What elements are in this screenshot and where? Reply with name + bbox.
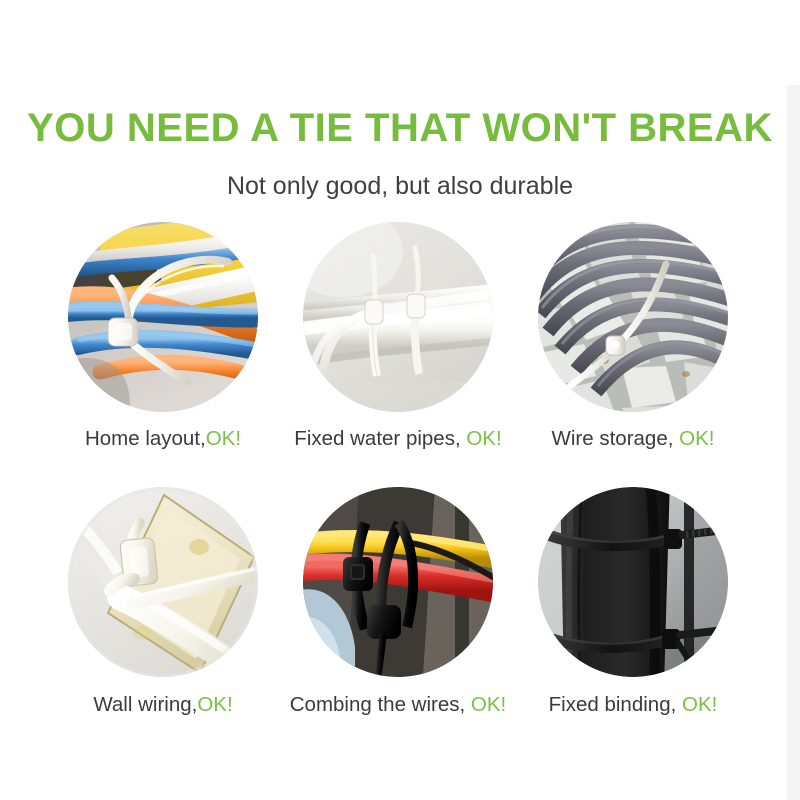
feature-card-wire-storage: Wire storage, OK! <box>515 222 751 487</box>
caption-ok-badge: OK! <box>471 693 506 716</box>
caption-fixed-binding: Fixed binding, OK! <box>515 693 751 717</box>
caption-text: Fixed binding, <box>549 693 682 716</box>
caption-fixed-water-pipes: Fixed water pipes, OK! <box>280 427 516 451</box>
page-title: YOU NEED A TIE THAT WON'T BREAK <box>0 106 800 151</box>
feature-card-wall-wiring: Wall wiring,OK! <box>45 487 281 752</box>
caption-text: Home layout, <box>85 427 206 450</box>
feature-card-fixed-binding: Fixed binding, OK! <box>515 487 751 752</box>
caption-text: Wall wiring, <box>93 693 197 716</box>
caption-home-layout: Home layout,OK! <box>45 427 281 451</box>
caption-ok-badge: OK! <box>682 693 717 716</box>
feature-card-combing-the-wires: Combing the wires, OK! <box>280 487 516 752</box>
caption-combing-the-wires: Combing the wires, OK! <box>280 693 516 717</box>
feature-card-fixed-water-pipes: Fixed water pipes, OK! <box>280 222 516 487</box>
photo-home-layout <box>68 222 258 412</box>
caption-text: Fixed water pipes, <box>294 427 466 450</box>
photo-wire-storage <box>538 222 728 412</box>
caption-text: Combing the wires, <box>290 693 471 716</box>
promo-page: YOU NEED A TIE THAT WON'T BREAK Not only… <box>0 0 800 800</box>
caption-ok-badge: OK! <box>197 693 232 716</box>
page-subtitle: Not only good, but also durable <box>0 172 800 201</box>
caption-wall-wiring: Wall wiring,OK! <box>45 693 281 717</box>
photo-fixed-water-pipes <box>303 222 493 412</box>
caption-text: Wire storage, <box>552 427 680 450</box>
photo-fixed-binding <box>538 487 728 677</box>
photo-combing-the-wires <box>303 487 493 677</box>
caption-wire-storage: Wire storage, OK! <box>515 427 751 451</box>
caption-ok-badge: OK! <box>206 427 241 450</box>
caption-ok-badge: OK! <box>679 427 714 450</box>
caption-ok-badge: OK! <box>466 427 501 450</box>
photo-wall-wiring <box>68 487 258 677</box>
feature-card-home-layout: Home layout,OK! <box>45 222 281 487</box>
